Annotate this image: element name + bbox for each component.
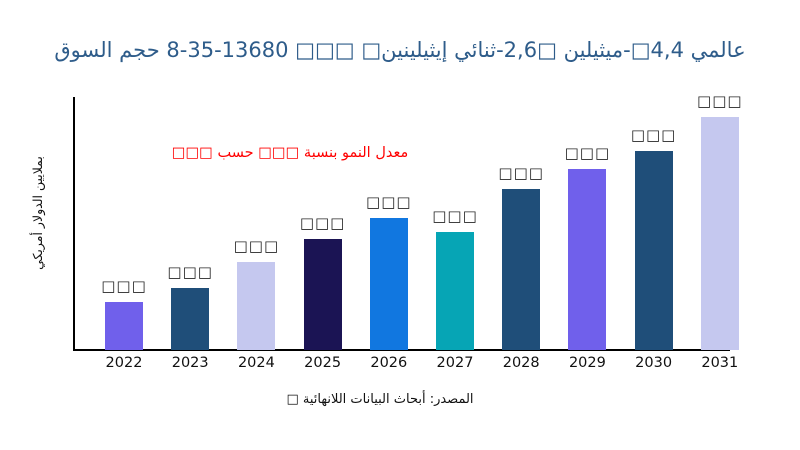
bar-value-label-2023: □□□ bbox=[150, 263, 230, 281]
bar-value-label-2030: □□□ bbox=[614, 126, 694, 144]
source-note: المصدر: أبحاث البيانات اللانهائية □ bbox=[0, 389, 760, 411]
y-axis-label: بملايين الدولار أمريكي bbox=[28, 113, 48, 313]
bar-2027 bbox=[436, 232, 474, 350]
bar-value-label-2024: □□□ bbox=[216, 237, 296, 255]
bar-2024 bbox=[237, 262, 275, 350]
bar-2025 bbox=[304, 239, 342, 350]
chart-title: عالمي 4,4□-ميثيلين □2,6-ثنائي إيثيلينين□… bbox=[0, 34, 800, 66]
bar-value-label-2028: □□□ bbox=[481, 164, 561, 182]
bar-2031 bbox=[701, 117, 739, 350]
bar-value-label-2031: □□□ bbox=[680, 92, 760, 110]
bar-value-label-2025: □□□ bbox=[283, 214, 363, 232]
bar-2028 bbox=[502, 189, 540, 350]
bar-value-label-2027: □□□ bbox=[415, 207, 495, 225]
bar-2023 bbox=[171, 288, 209, 350]
bar-2029 bbox=[568, 169, 606, 350]
growth-rate-annotation: معدل النمو بنسبة □□□ حسب □□□ bbox=[140, 142, 440, 164]
bar-2026 bbox=[370, 218, 408, 350]
x-tick-label-2031: 2031 bbox=[680, 355, 760, 371]
y-axis-line bbox=[73, 97, 75, 351]
bar-2030 bbox=[635, 151, 673, 350]
bar-value-label-2029: □□□ bbox=[547, 144, 627, 162]
bar-2022 bbox=[105, 302, 143, 350]
bar-chart: عالمي 4,4□-ميثيلين □2,6-ثنائي إيثيلينين□… bbox=[0, 0, 800, 450]
